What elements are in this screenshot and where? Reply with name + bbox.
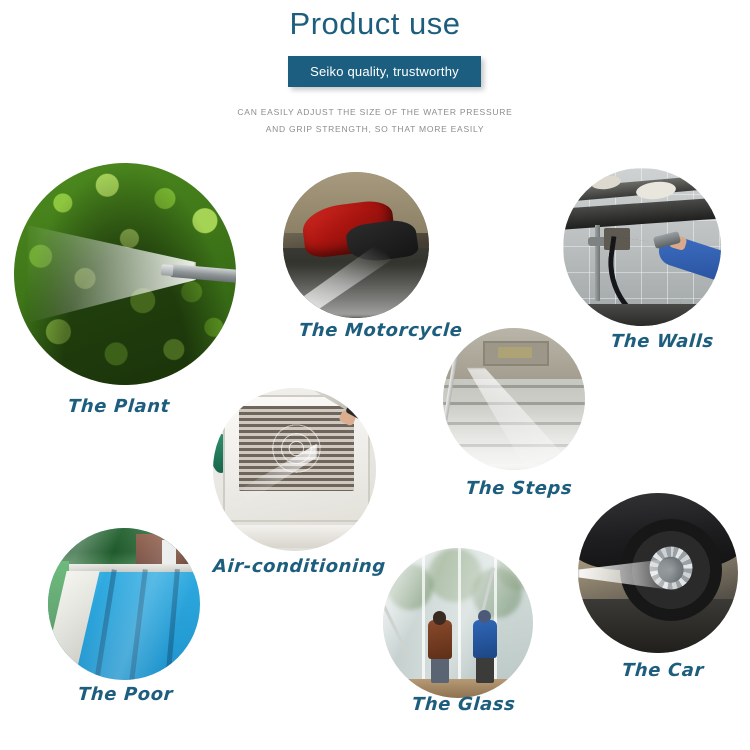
glass-sheen bbox=[383, 548, 533, 698]
subtitle-line-1: CAN EASILY ADJUST THE SIZE OF THE WATER … bbox=[0, 104, 750, 121]
subtitle: CAN EASILY ADJUST THE SIZE OF THE WATER … bbox=[0, 104, 750, 138]
product-use-page: Product use Seiko quality, trustworthy C… bbox=[0, 0, 750, 750]
caption-pool: The Poor bbox=[77, 684, 174, 705]
caption-plant: The Plant bbox=[67, 396, 170, 417]
photo-steps bbox=[443, 328, 585, 470]
caption-car: The Car bbox=[621, 660, 704, 681]
caption-glass: The Glass bbox=[411, 694, 516, 715]
photo-pool bbox=[48, 528, 200, 680]
worker-right-legs bbox=[476, 655, 494, 684]
wall-floor bbox=[563, 304, 721, 326]
worker-right-head bbox=[478, 610, 492, 624]
steps-wet-sheen bbox=[443, 405, 585, 470]
subtitle-line-2: AND GRIP STRENGTH, SO THAT MORE EASILY bbox=[0, 121, 750, 138]
photo-car bbox=[578, 493, 738, 653]
tagline-text: Seiko quality, trustworthy bbox=[310, 64, 459, 79]
header: Product use Seiko quality, trustworthy C… bbox=[0, 0, 750, 150]
photo-plant bbox=[14, 163, 236, 385]
worker-left-head bbox=[433, 611, 447, 625]
motorcycle-mist bbox=[283, 263, 429, 318]
caption-motorcycle: The Motorcycle bbox=[298, 320, 463, 341]
pool-surface-sheen bbox=[48, 528, 200, 680]
page-title: Product use bbox=[0, 6, 750, 42]
wall-pipe bbox=[595, 225, 600, 301]
caption-steps: The Steps bbox=[465, 478, 573, 499]
photo-glass bbox=[383, 548, 533, 698]
worker-left-body bbox=[428, 620, 452, 659]
worker-left-legs bbox=[431, 656, 449, 683]
photo-air-conditioning bbox=[213, 388, 376, 551]
ac-base bbox=[223, 525, 366, 548]
photo-motorcycle bbox=[283, 172, 429, 318]
tagline-badge: Seiko quality, trustworthy bbox=[288, 56, 481, 87]
steps-plaque bbox=[483, 341, 549, 366]
photo-walls bbox=[563, 168, 721, 326]
worker-right-body bbox=[473, 620, 497, 658]
caption-walls: The Walls bbox=[610, 331, 714, 352]
caption-air-conditioning: Air-conditioning bbox=[212, 556, 386, 577]
step-edge-1 bbox=[443, 385, 585, 388]
